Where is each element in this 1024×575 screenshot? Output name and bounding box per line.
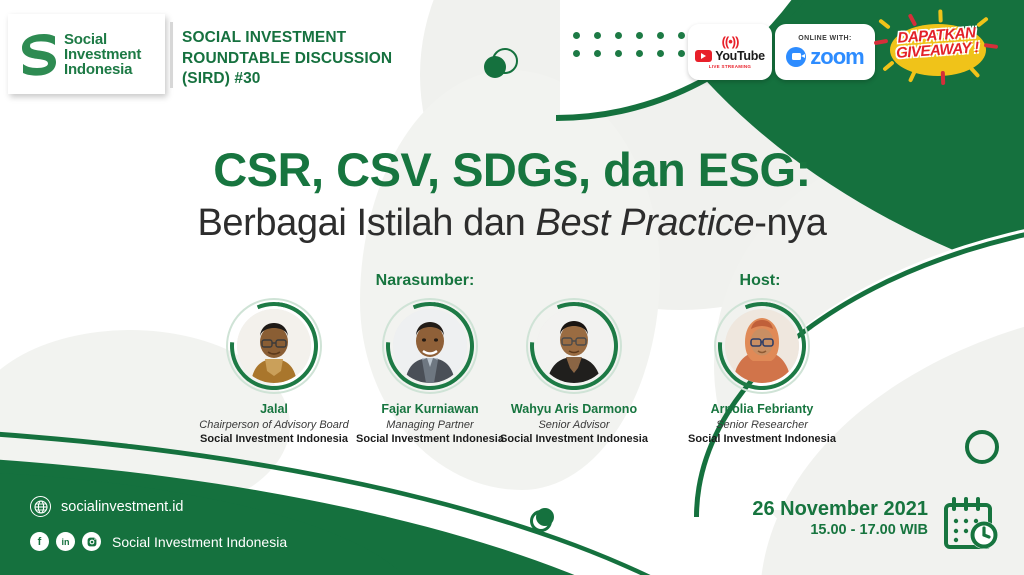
host-org: Social Investment Indonesia [672,432,852,446]
host-card: Arnolia Febrianty Senior Researcher Soci… [672,298,852,446]
calendar-clock-icon [942,497,1002,553]
website-row[interactable]: socialinvestment.id [30,496,184,517]
circle-filled-decoration-top [484,56,506,78]
instagram-icon[interactable] [82,532,101,551]
subtitle-before: Berbagai Istilah dan [197,202,535,244]
header-divider [170,22,173,88]
website-url: socialinvestment.id [61,499,184,515]
dot-grid-decoration [573,32,699,68]
giveaway-ray [969,66,981,78]
youtube-sublabel: LIVE STREAMING [709,64,751,69]
zoom-label: zoom [810,44,863,70]
event-poster: Social Investment Indonesia SOCIAL INVES… [0,0,1024,575]
social-row[interactable]: f in Social Investment Indonesia [30,532,287,551]
giveaway-ray [878,18,891,29]
series-line-2: ROUNDTABLE DISCUSSION [182,49,442,70]
speaker-role: Senior Advisor [484,418,664,432]
series-line-1: SOCIAL INVESTMENT [182,28,442,49]
host-group-label: Host: [700,272,820,290]
host-name: Arnolia Febrianty [672,402,852,418]
speaker-card: Jalal Chairperson of Advisory Board Soci… [184,298,364,446]
speaker-org: Social Investment Indonesia [184,432,364,446]
online-with-label: ONLINE WITH: [798,35,851,42]
speaker-name: Jalal [184,402,364,418]
speaker-role: Chairperson of Advisory Board [184,418,364,432]
linkedin-icon[interactable]: in [56,532,75,551]
youtube-label: YouTube [715,49,765,63]
event-date: 26 November 2021 [752,498,928,521]
subtitle-after: -nya [754,202,826,244]
page-subtitle: Berbagai Istilah dan Best Practice-nya [0,202,1024,245]
handshake-s-logo-icon [18,32,58,76]
speaker-card: Wahyu Aris Darmono Senior Advisor Social… [484,298,664,446]
circle-outline-decoration-bottom-right [965,430,999,464]
speaker-org: Social Investment Indonesia [484,432,664,446]
giveaway-ray [908,13,918,26]
giveaway-ray [908,69,917,82]
logo-line-2: Investment [64,47,141,62]
circle-filled-decoration-bottom-center [536,508,554,526]
social-handle: Social Investment Indonesia [112,534,287,550]
globe-icon [30,496,51,517]
series-line-3: (SIRD) #30 [182,69,442,90]
zoom-badge[interactable]: ONLINE WITH: zoom [775,24,875,80]
brand-logo-card: Social Investment Indonesia [8,14,165,94]
portrait-fajar-kurniawan [393,309,467,383]
giveaway-badge: DAPATKAN GIVEAWAY ! [872,14,1002,86]
page-title: CSR, CSV, SDGs, dan ESG: [0,142,1024,197]
avatar [226,298,322,394]
zoom-camera-icon [786,47,806,67]
avatar [714,298,810,394]
giveaway-ray [938,9,942,22]
live-signal-icon: ((•)) [722,35,739,48]
speaker-name: Wahyu Aris Darmono [484,402,664,418]
avatar [526,298,622,394]
portrait-wahyu-aris-darmono [537,309,611,383]
youtube-play-icon [695,50,712,62]
portrait-arnolia-febrianty [725,309,799,383]
subtitle-italic: Best Practice [536,202,755,244]
logo-line-3: Indonesia [64,62,141,77]
event-series-title: SOCIAL INVESTMENT ROUNDTABLE DISCUSSION … [182,28,442,90]
giveaway-ray [941,71,945,85]
portrait-jalal [237,309,311,383]
facebook-icon[interactable]: f [30,532,49,551]
youtube-live-badge[interactable]: ((•)) YouTube LIVE STREAMING [688,24,772,80]
host-role: Senior Researcher [672,418,852,432]
logo-line-1: Social [64,32,141,47]
event-time: 15.00 - 17.00 WIB [752,521,928,540]
avatar [382,298,478,394]
giveaway-ray [882,60,895,71]
event-date-block: 26 November 2021 15.00 - 17.00 WIB [752,498,928,540]
speakers-group-label: Narasumber: [365,272,485,290]
